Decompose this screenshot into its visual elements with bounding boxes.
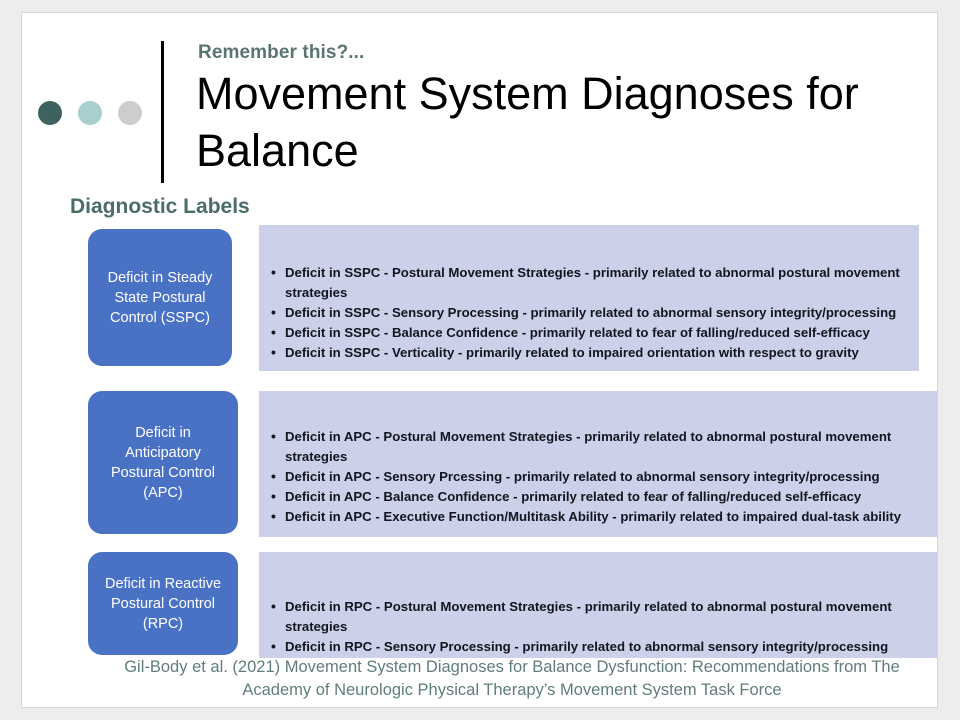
bullet-panel-sspc: Deficit in SSPC - Postural Movement Stra… bbox=[259, 225, 919, 371]
dot-gray-icon bbox=[118, 101, 142, 125]
bullet-list-rpc: Deficit in RPC - Postural Movement Strat… bbox=[267, 597, 938, 657]
vertical-divider-rule bbox=[161, 41, 164, 183]
dot-light-teal-icon bbox=[78, 101, 102, 125]
dot-dark-teal-icon bbox=[38, 101, 62, 125]
bullet-panel-rpc: Deficit in RPC - Postural Movement Strat… bbox=[259, 552, 938, 658]
slide-header: Remember this?... Movement System Diagno… bbox=[22, 13, 937, 188]
bullet-panel-apc: Deficit in APC - Postural Movement Strat… bbox=[259, 391, 938, 537]
category-box-rpc: Deficit in Reactive Postural Control (RP… bbox=[88, 552, 238, 655]
page-title: Movement System Diagnoses for Balance bbox=[196, 65, 896, 179]
list-item: Deficit in RPC - Postural Movement Strat… bbox=[267, 597, 938, 637]
list-item: Deficit in SSPC - Postural Movement Stra… bbox=[267, 263, 911, 303]
slide-card: Remember this?... Movement System Diagno… bbox=[21, 12, 938, 708]
category-box-apc: Deficit in Anticipatory Postural Control… bbox=[88, 391, 238, 534]
section-heading-diagnostic-labels: Diagnostic Labels bbox=[70, 195, 250, 219]
list-item: Deficit in APC - Postural Movement Strat… bbox=[267, 427, 938, 467]
list-item: Deficit in SSPC - Verticality - primaril… bbox=[267, 343, 911, 363]
list-item: Deficit in APC - Balance Confidence - pr… bbox=[267, 487, 938, 507]
list-item: Deficit in SSPC - Balance Confidence - p… bbox=[267, 323, 911, 343]
list-item: Deficit in SSPC - Sensory Processing - p… bbox=[267, 303, 911, 323]
bullet-list-apc: Deficit in APC - Postural Movement Strat… bbox=[267, 427, 938, 527]
category-box-sspc: Deficit in Steady State Postural Control… bbox=[88, 229, 232, 366]
bullet-list-sspc: Deficit in SSPC - Postural Movement Stra… bbox=[267, 263, 911, 363]
list-item: Deficit in RPC - Sensory Processing - pr… bbox=[267, 637, 938, 657]
list-item: Deficit in APC - Executive Function/Mult… bbox=[267, 507, 938, 527]
decorative-dots bbox=[38, 101, 142, 125]
list-item: Deficit in APC - Sensory Prcessing - pri… bbox=[267, 467, 938, 487]
eyebrow-text: Remember this?... bbox=[198, 42, 364, 64]
citation-text: Gil-Body et al. (2021) Movement System D… bbox=[117, 656, 907, 702]
